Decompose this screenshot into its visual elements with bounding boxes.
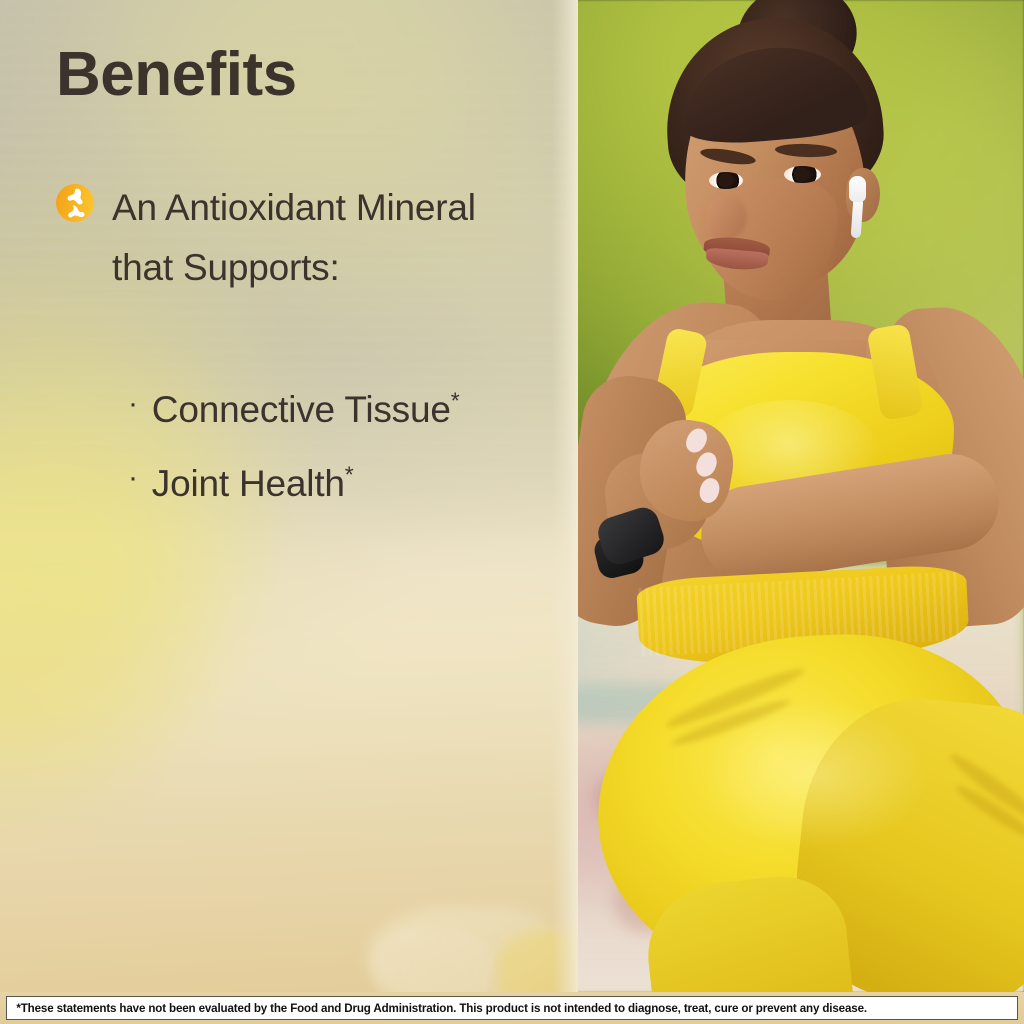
list-item-label: Connective Tissue* bbox=[152, 380, 548, 440]
iris bbox=[718, 173, 733, 188]
footnote-marker: * bbox=[345, 462, 354, 488]
iris bbox=[794, 167, 809, 182]
earbud-stem bbox=[851, 198, 864, 239]
disclaimer-bar: *These statements have not been evaluate… bbox=[6, 996, 1018, 1020]
disclaimer-text: *These statements have not been evaluate… bbox=[7, 1001, 867, 1015]
benefit-lead-row: An Antioxidant Mineral that Supports: bbox=[56, 178, 526, 298]
wireless-earbud-icon bbox=[849, 176, 866, 202]
list-item-label: Joint Health* bbox=[152, 454, 548, 514]
bullet-marker: · bbox=[128, 454, 138, 503]
footnote-marker: * bbox=[451, 388, 460, 414]
product-benefits-banner: Benefits An Antioxidant Mineral that Sup… bbox=[0, 0, 1024, 1024]
list-item: · Joint Health* bbox=[128, 454, 548, 514]
page-title: Benefits bbox=[56, 42, 297, 107]
joint-bone-icon bbox=[56, 184, 94, 222]
benefits-content: Benefits An Antioxidant Mineral that Sup… bbox=[0, 0, 578, 992]
bullet-marker: · bbox=[128, 380, 138, 429]
benefit-bullet-list: · Connective Tissue* · Joint Health* bbox=[128, 380, 548, 528]
list-item: · Connective Tissue* bbox=[128, 380, 548, 440]
benefit-lead-text: An Antioxidant Mineral that Supports: bbox=[112, 178, 526, 298]
